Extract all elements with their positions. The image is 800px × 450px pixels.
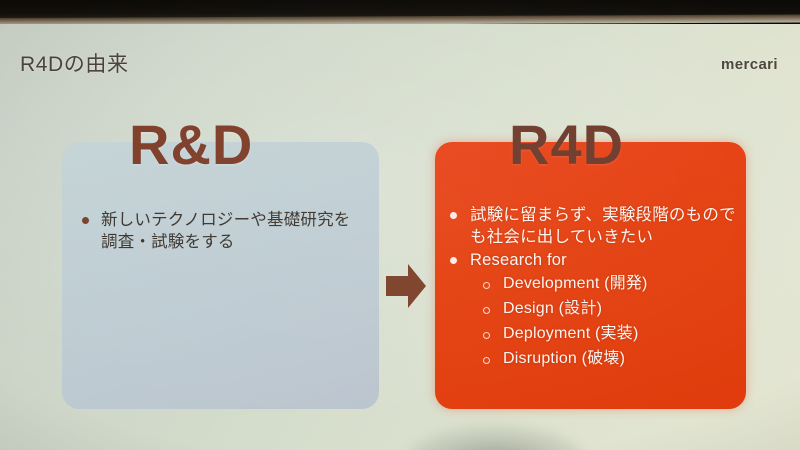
bullet-dot-icon [450, 212, 457, 219]
panel-r4d-bullet-list: 試験に留まらず、実験段階のものでも社会に出していきたい Research for… [450, 204, 738, 369]
list-item-label: Development (開発) [503, 273, 648, 295]
list-item-label: 新しいテクノロジーや基礎研究を調査・試験をする [101, 209, 364, 254]
page-title: R4Dの由来 [20, 48, 129, 78]
list-item-label: Disruption (破壊) [503, 348, 625, 370]
bullet-circle-icon [483, 307, 490, 314]
list-item-label: Deployment (実装) [503, 323, 638, 345]
list-item-label: Research for [470, 249, 567, 271]
panel-rnd-heading: R&D [129, 117, 253, 173]
list-item-label: 試験に留まらず、実験段階のものでも社会に出していきたい [470, 204, 738, 249]
arrow-right-icon [384, 262, 428, 310]
list-item: 新しいテクノロジーや基礎研究を調査・試験をする [82, 209, 364, 254]
list-item: Deployment (実装) [483, 323, 738, 345]
bullet-circle-icon [483, 357, 490, 364]
mercari-logo: mercari [721, 56, 778, 73]
bullet-dot-icon [82, 217, 89, 224]
panel-rnd-bullet-list: 新しいテクノロジーや基礎研究を調査・試験をする [82, 209, 364, 254]
slide-surface: R4Dの由来 mercari R&D 新しいテクノロジーや基礎研究を調査・試験を… [0, 24, 800, 450]
projected-slide-photo: R4Dの由来 mercari R&D 新しいテクノロジーや基礎研究を調査・試験を… [0, 0, 800, 450]
bullet-dot-icon [450, 257, 457, 264]
research-for-sub-list: Development (開発) Design (設計) Deployment … [483, 273, 738, 369]
panel-r4d-heading: R4D [509, 117, 624, 173]
list-item: Research for Development (開発) Design (設計… [450, 249, 738, 369]
bullet-circle-icon [483, 332, 490, 339]
list-item: Development (開発) [483, 273, 738, 295]
list-item: Design (設計) [483, 298, 738, 320]
list-item-label: Design (設計) [503, 298, 602, 320]
bullet-circle-icon [483, 282, 490, 289]
list-item: 試験に留まらず、実験段階のものでも社会に出していきたい [450, 204, 738, 249]
panel-rnd [62, 142, 379, 409]
list-item: Disruption (破壊) [483, 348, 738, 370]
